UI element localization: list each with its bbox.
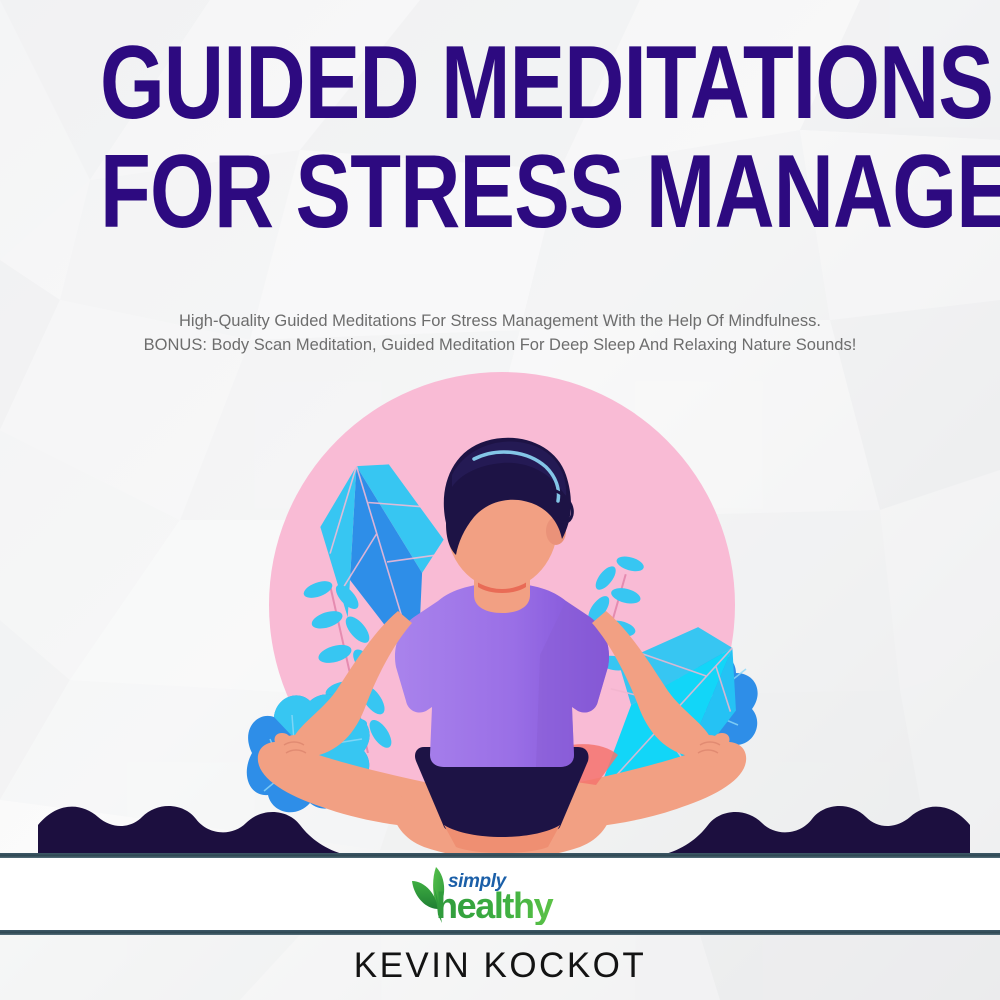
audiobook-cover: GUIDED MEDITATIONS FOR STRESS MANAGEMENT… <box>0 0 1000 1000</box>
divider-rule-top <box>0 853 1000 858</box>
author-name: KEVIN KOCKOT <box>0 946 1000 986</box>
cover-subtitle: High-Quality Guided Meditations For Stre… <box>70 310 930 358</box>
publisher-logo-band: simply healthy <box>0 858 1000 930</box>
divider-rule-bottom <box>0 930 1000 935</box>
cover-title: GUIDED MEDITATIONS FOR STRESS MANAGEMENT <box>0 34 1000 242</box>
logo-word-healthy: healthy <box>436 885 554 925</box>
subtitle-line-2: BONUS: Body Scan Meditation, Guided Medi… <box>70 334 930 358</box>
subtitle-line-1: High-Quality Guided Meditations For Stre… <box>70 310 930 334</box>
title-line-2: FOR STRESS MANAGEMENT <box>100 143 900 242</box>
title-line-1: GUIDED MEDITATIONS <box>100 34 900 133</box>
meditation-illustration <box>0 355 1000 855</box>
simply-healthy-logo: simply healthy <box>400 863 600 925</box>
